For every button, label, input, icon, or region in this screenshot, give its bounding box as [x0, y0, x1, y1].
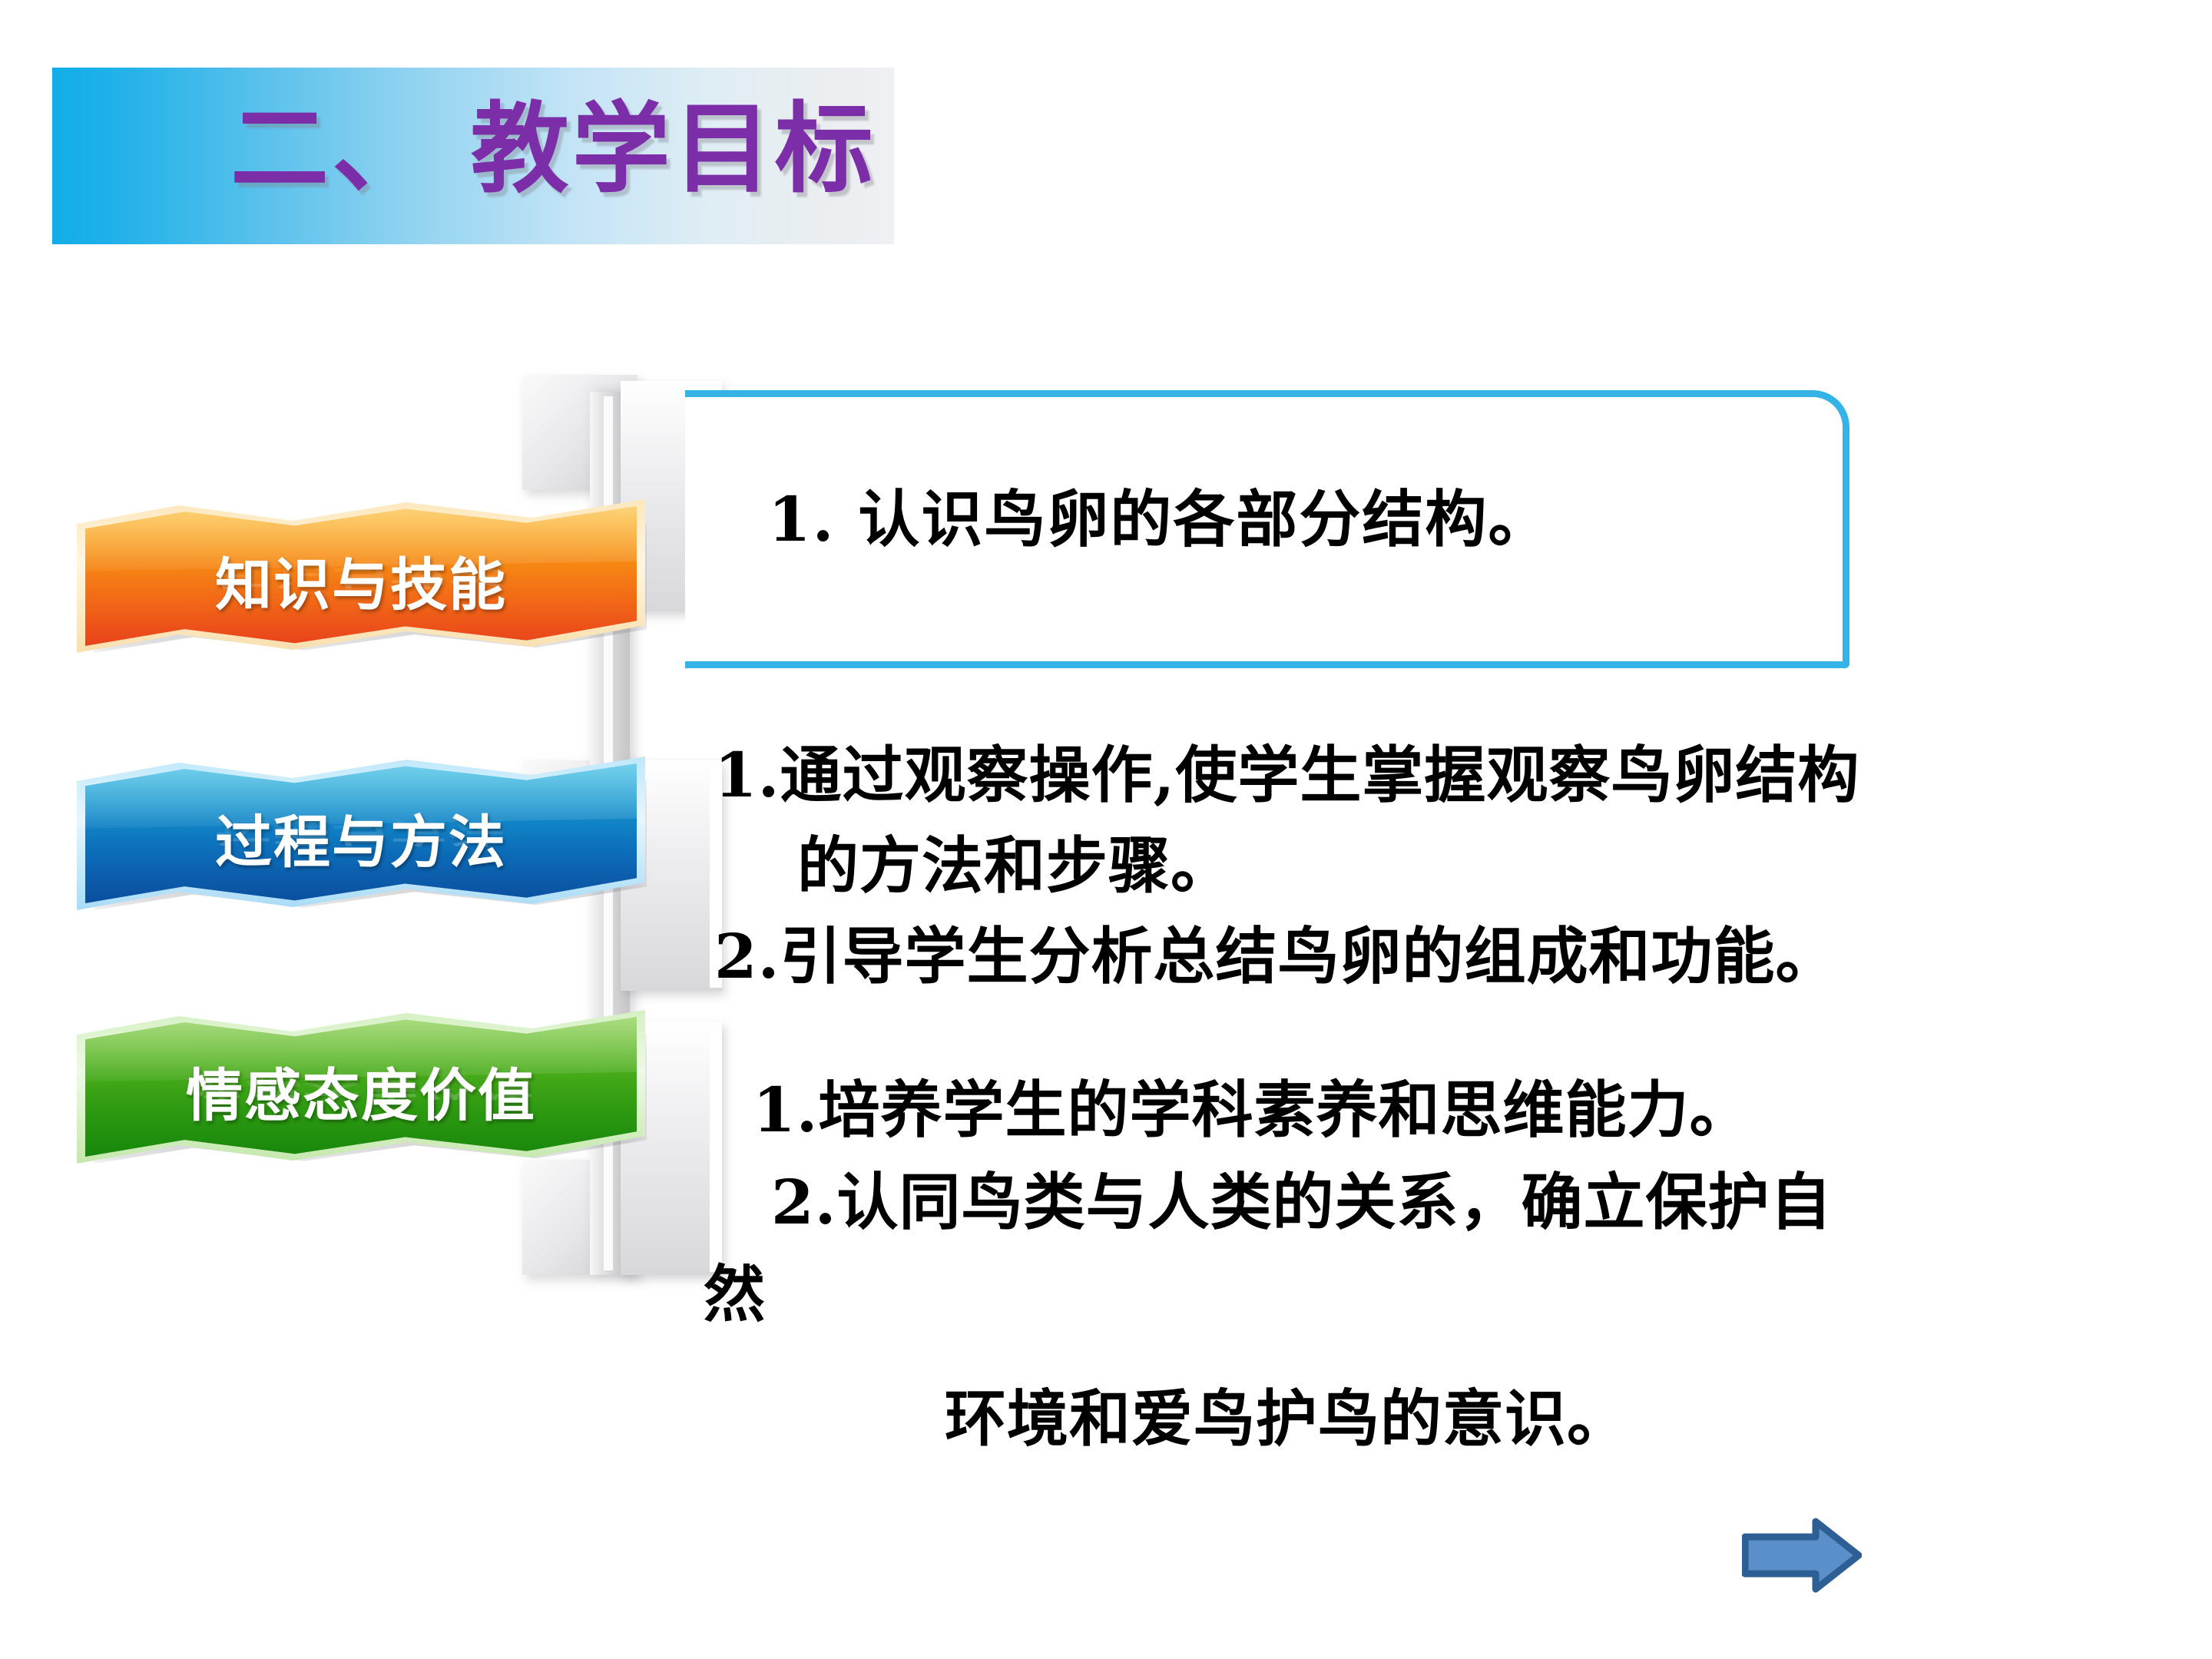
content-line-values-4: 环境和爱鸟护鸟的意识。	[714, 1373, 2174, 1465]
next-slide-button[interactable]	[1742, 1517, 1862, 1594]
ribbon-label-reflection: 知识与技能	[77, 555, 645, 598]
content-block-process: 1.通过观察操作,使学生掌握观察鸟卵结构 的方法和步骤。 2.引导学生分析总结鸟…	[714, 730, 2143, 1002]
ribbon-emotional-attitude-values[interactable]: 情感态度价值 情感态度价值	[77, 1010, 661, 1171]
content-line-values-1: 1.培养学生的学科素养和思维能力。	[714, 1064, 2174, 1156]
content-line-values-3: 然	[704, 1248, 2174, 1340]
content-line-values-2: 2.认同鸟类与人类的关系，确立保护自	[714, 1156, 2174, 1248]
ribbon-label-reflection: 情感态度价值	[77, 1065, 645, 1108]
page-title: 二、 教学目标	[230, 81, 922, 219]
content-line-knowledge-1: 1. 认识鸟卵的各部分结构。	[768, 470, 1551, 559]
content-line-process-2: 的方法和步骤。	[714, 820, 2143, 911]
content-block-values: 1.培养学生的学科素养和思维能力。 2.认同鸟类与人类的关系，确立保护自 然 环…	[714, 1064, 2174, 1465]
content-line-process-1: 1.通过观察操作,使学生掌握观察鸟卵结构	[714, 730, 2143, 820]
ribbon-knowledge-and-skills[interactable]: 知识与技能 知识与技能	[77, 499, 661, 661]
ribbon-label-reflection: 过程与方法	[77, 812, 645, 855]
ribbon-process-and-methods[interactable]: 过程与方法 过程与方法	[77, 757, 661, 918]
arrow-right-icon	[1742, 1517, 1862, 1594]
content-line-process-3: 2.引导学生分析总结鸟卵的组成和功能。	[714, 911, 2143, 1002]
